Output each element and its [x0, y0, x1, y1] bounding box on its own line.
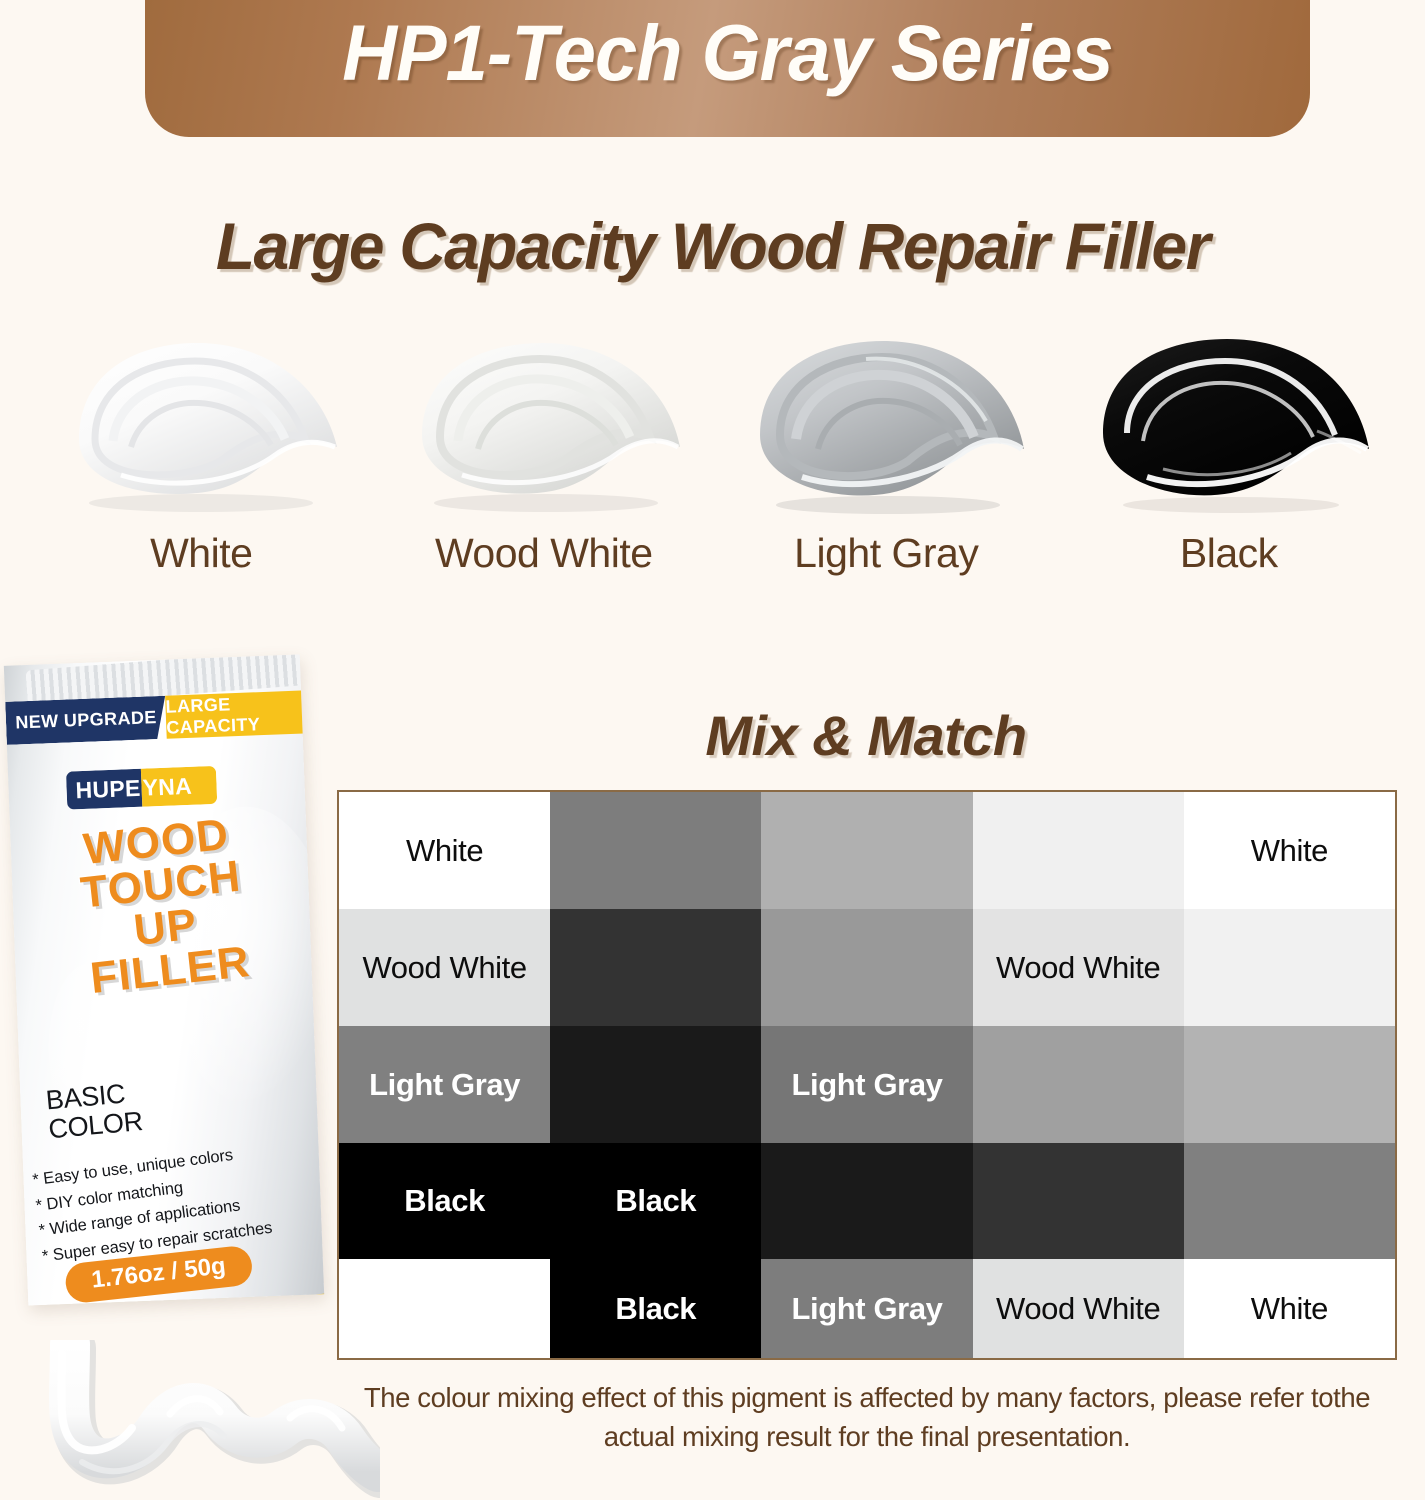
- grid-cell: [973, 1026, 1184, 1143]
- mix-match-grid-body: White White Wood White Wood White Light …: [339, 792, 1395, 1358]
- header-banner: HP1-Tech Gray Series: [145, 0, 1310, 137]
- swatch-light-gray: Light Gray: [715, 325, 1058, 595]
- brand-logo-part-2: YNA: [141, 766, 217, 807]
- grid-cell: Black: [339, 1143, 550, 1260]
- grid-cell: White: [1184, 792, 1395, 909]
- swatch-label: Light Gray: [715, 530, 1058, 577]
- feature-list: * Easy to use, unique colors * DIY color…: [31, 1137, 292, 1270]
- grid-cell: [1184, 1026, 1395, 1143]
- grid-cell: [550, 792, 761, 909]
- page-title: Large Capacity Wood Repair Filler: [21, 208, 1403, 284]
- grid-cell: Wood White: [339, 909, 550, 1026]
- paste-smear-icon: [1089, 335, 1369, 515]
- disclaimer-text: The colour mixing effect of this pigment…: [336, 1378, 1398, 1456]
- paste-smear-icon: [61, 335, 341, 515]
- paste-smear-icon: [746, 335, 1026, 515]
- badge-new-upgrade: NEW UPGRADE: [5, 696, 167, 745]
- grid-cell: [1184, 1143, 1395, 1260]
- product-tube-image: NEW UPGRADE LARGE CAPACITY HUPE YNA WOOD…: [4, 648, 322, 1328]
- badge-large-capacity: LARGE CAPACITY: [165, 690, 314, 739]
- product-subtitle: BASIC COLOR: [45, 1073, 200, 1144]
- grid-cell: [550, 909, 761, 1026]
- swatch-label: White: [30, 530, 373, 577]
- grid-cell: Black: [550, 1259, 761, 1358]
- tube-body: NEW UPGRADE LARGE CAPACITY HUPE YNA WOOD…: [4, 655, 324, 1306]
- grid-cell: Light Gray: [761, 1259, 972, 1358]
- grid-cell: White: [1184, 1259, 1395, 1358]
- grid-cell: Wood White: [973, 1259, 1184, 1358]
- mix-match-heading: Mix & Match: [336, 703, 1396, 768]
- paste-squiggle-icon: [20, 1340, 380, 1500]
- brand-logo-part-1: HUPE: [66, 769, 142, 810]
- paste-smear-icon: [404, 335, 684, 515]
- color-swatch-row: White W: [30, 325, 1400, 595]
- swatch-white: White: [30, 325, 373, 595]
- grid-cell: Wood White: [973, 909, 1184, 1026]
- swatch-label: Wood White: [373, 530, 716, 577]
- grid-cell: [973, 1143, 1184, 1260]
- grid-cell: Light Gray: [761, 1026, 972, 1143]
- mix-match-grid: White White Wood White Wood White Light …: [337, 790, 1397, 1360]
- grid-cell: [339, 1259, 550, 1358]
- grid-cell: [550, 1026, 761, 1143]
- product-name: WOOD TOUCH UP FILLER: [15, 805, 312, 1007]
- grid-cell: [761, 909, 972, 1026]
- grid-cell: [761, 792, 972, 909]
- product-infographic: HP1-Tech Gray Series Large Capacity Wood…: [0, 0, 1425, 1500]
- grid-cell: Black: [550, 1143, 761, 1260]
- banner-title: HP1-Tech Gray Series: [168, 7, 1286, 99]
- swatch-label: Black: [1058, 530, 1401, 577]
- grid-cell: White: [339, 792, 550, 909]
- swatch-black: Black: [1058, 325, 1401, 595]
- swatch-wood-white: Wood White: [373, 325, 716, 595]
- grid-cell: Light Gray: [339, 1026, 550, 1143]
- grid-cell: [761, 1143, 972, 1260]
- brand-logo: HUPE YNA: [66, 766, 217, 810]
- grid-cell: [973, 792, 1184, 909]
- grid-cell: [1184, 909, 1395, 1026]
